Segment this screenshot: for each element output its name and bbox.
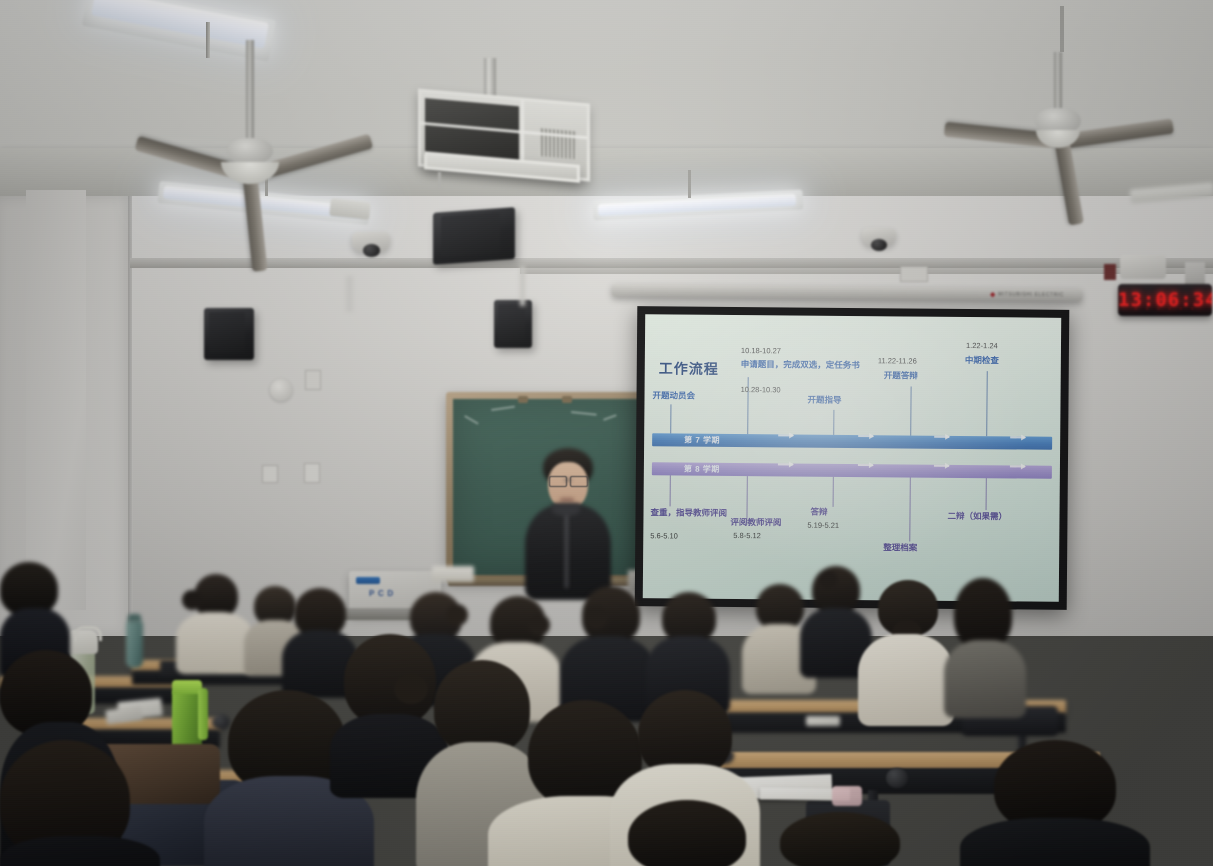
presenter-mouth: [560, 498, 574, 502]
wall-junction-box: [900, 266, 928, 282]
wall-ac-unit-vent: [1120, 255, 1166, 279]
wall-clock-indicator: • • • • • •: [1118, 306, 1212, 313]
semester-7-arrow-4: [1010, 436, 1025, 438]
projection-screen: 工作流程 第 7 学期 开题动员会 10.18-10.27 申请题目，完成双选，…: [643, 314, 1061, 602]
event-top-5-date: 1.22-1.24: [966, 341, 998, 351]
chair-knob-right-1: [886, 768, 908, 788]
event-top-2-label: 申请题目，完成双选，定任务书: [741, 358, 891, 372]
water-bottle-handle: [74, 626, 102, 641]
wall-speaker-center: [433, 207, 515, 265]
semester-7-arrow-3: [934, 436, 949, 438]
event-top-2-date: 10.18-10.27: [741, 346, 781, 356]
semester-8-arrow-2: [858, 464, 873, 466]
wall-conduit: [346, 276, 353, 312]
wall-pillar: [26, 190, 86, 610]
stem-bottom-3: [833, 477, 834, 507]
event-top-4-label: 开题答辩: [884, 370, 918, 381]
screen-brand-label: ◆ MITSUBISHI ELECTRIC: [990, 290, 1064, 299]
student-row2-9: [944, 578, 1026, 704]
console-indicator-strip: [356, 577, 380, 584]
stem-top-3: [833, 410, 834, 435]
semester-8-arrow-1: [778, 463, 793, 465]
wall-speaker-right: [494, 300, 532, 348]
pink-case: [832, 786, 862, 806]
semester-7-arrow-1: [778, 434, 793, 436]
student-row2-8: [858, 580, 954, 718]
presenter-glasses-bridge: [565, 479, 571, 481]
water-bottle-teal: [126, 620, 143, 668]
wall-switch-plate-lower: [304, 463, 320, 483]
semester-8-arrow-4: [1010, 465, 1025, 467]
projector-cable: [438, 172, 441, 188]
semester-7-arrow-2: [858, 435, 873, 437]
stem-bottom-1: [670, 475, 671, 506]
console-papers: [432, 566, 474, 582]
semester-8-label: 第 8 学期: [684, 463, 720, 476]
notebook-right: [806, 716, 840, 726]
event-bottom-5-label: 二辩（如果需）: [947, 511, 1007, 523]
wall-mounted-rail: [130, 258, 1213, 268]
stem-top-5: [986, 371, 988, 436]
presenter: [519, 448, 615, 598]
event-bottom-3-label: 答辩: [810, 507, 827, 518]
event-bottom-1-label: 查重，指导教师评阅: [650, 506, 730, 519]
event-top-4-date: 11.22-11.26: [878, 356, 917, 366]
semester-8-arrow-3: [934, 465, 949, 467]
student-foreground-right: [960, 740, 1150, 866]
wall-speaker-left: [204, 308, 254, 360]
wall-power-socket: [1104, 264, 1116, 280]
stem-bottom-5: [986, 478, 987, 510]
wall-conduit-center: [520, 266, 525, 306]
student-foreground-bottom: [604, 790, 774, 866]
wall-thermostat-dial: [270, 379, 292, 401]
event-bottom-1-date: 5.6-5.10: [650, 531, 678, 541]
wall-switch-plate-upper: [305, 370, 321, 390]
event-bottom-2-date: 5.8-5.12: [733, 531, 761, 541]
slide-content: 工作流程 第 7 学期 开题动员会 10.18-10.27 申请题目，完成双选，…: [643, 314, 1061, 602]
event-bottom-3-date: 5.19-5.21: [807, 521, 839, 531]
stem-bottom-4: [909, 478, 911, 542]
event-top-2-date-secondary: 10.28-10.30: [741, 385, 781, 395]
water-bottle-teal-cap: [128, 614, 141, 622]
stem-bottom-2: [746, 476, 747, 523]
slide-title: 工作流程: [659, 358, 719, 379]
stem-top-1: [670, 404, 671, 433]
semester-7-label: 第 7 学期: [684, 434, 720, 447]
classroom-photo: 13:06:34 • • • • • • P C D ◆ MITSUBISHI …: [0, 0, 1213, 866]
presenter-glasses-left-lens: [549, 476, 567, 487]
event-bottom-4-label: 整理档案: [883, 542, 917, 553]
event-top-5-label: 中期检查: [965, 355, 999, 366]
event-top-3-label: 开题指导: [807, 395, 841, 406]
event-bottom-2-label: 评阅教师评阅: [730, 517, 781, 528]
light-hanger-rod-3: [688, 170, 691, 198]
student-foreground-left-2: [0, 740, 160, 866]
mitsubishi-logo-icon: ◆: [990, 290, 996, 298]
ceiling-fan-left: [120, 40, 380, 200]
event-top-1-label: 开题动员会: [652, 390, 695, 401]
wall-outlet-plate: [262, 465, 278, 483]
stem-top-4: [910, 387, 911, 436]
console-brand-label: P C D: [369, 589, 394, 598]
wall-clock: 13:06:34 • • • • • •: [1118, 284, 1212, 316]
chalkboard-clip-left: [518, 396, 528, 403]
presenter-jacket-zipper: [565, 510, 568, 588]
light-hanger-rod-4: [1060, 6, 1064, 52]
chalkboard-clip-right: [562, 396, 572, 403]
student-back-1: [176, 574, 254, 670]
presenter-collar: [552, 504, 580, 516]
student-foreground-bottom-2: [770, 812, 920, 866]
presenter-glasses-right-lens: [570, 476, 588, 487]
ceiling-fan-right: [880, 52, 1180, 192]
